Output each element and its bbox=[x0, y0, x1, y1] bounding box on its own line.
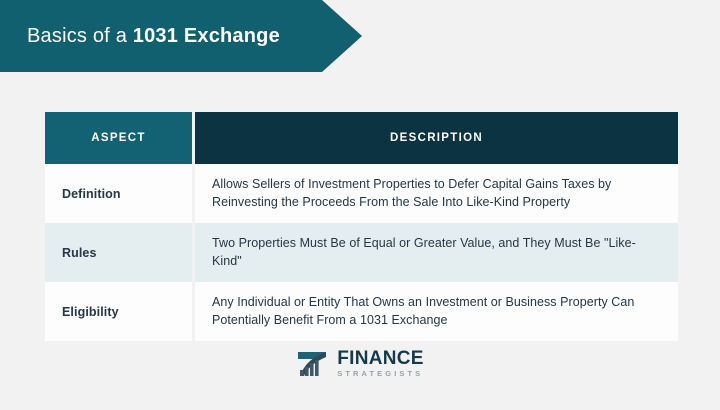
table-body: Definition Allows Sellers of Investment … bbox=[45, 164, 678, 341]
page-title-prefix: Basics of a bbox=[27, 25, 133, 47]
basics-table: ASPECT DESCRIPTION Definition Allows Sel… bbox=[45, 112, 678, 341]
cell-description: Allows Sellers of Investment Properties … bbox=[192, 164, 678, 223]
page-title-emphasis: 1031 Exchange bbox=[133, 25, 280, 47]
column-header-aspect: ASPECT bbox=[45, 112, 192, 164]
header-banner: Basics of a 1031 Exchange bbox=[0, 0, 362, 72]
table-row: Eligibility Any Individual or Entity Tha… bbox=[45, 282, 678, 341]
column-header-description: DESCRIPTION bbox=[192, 112, 678, 164]
cell-aspect: Eligibility bbox=[45, 282, 192, 341]
logo-sub-text: STRATEGISTS bbox=[337, 370, 424, 378]
cell-aspect: Rules bbox=[45, 223, 192, 282]
page-title: Basics of a 1031 Exchange bbox=[0, 25, 280, 48]
table-header: ASPECT DESCRIPTION bbox=[45, 112, 678, 164]
cell-description: Two Properties Must Be of Equal or Great… bbox=[192, 223, 678, 282]
table-row: Definition Allows Sellers of Investment … bbox=[45, 164, 678, 223]
cell-aspect: Definition bbox=[45, 164, 192, 223]
table-header-row: ASPECT DESCRIPTION bbox=[45, 112, 678, 164]
finance-strategists-chart-arrow-icon bbox=[296, 348, 330, 378]
cell-description: Any Individual or Entity That Owns an In… bbox=[192, 282, 678, 341]
table-row: Rules Two Properties Must Be of Equal or… bbox=[45, 223, 678, 282]
logo-wordmark: FINANCE STRATEGISTS bbox=[337, 349, 424, 378]
logo-main-text: FINANCE bbox=[337, 349, 424, 368]
basics-table-container: ASPECT DESCRIPTION Definition Allows Sel… bbox=[45, 112, 678, 341]
footer-logo: FINANCE STRATEGISTS bbox=[0, 348, 720, 378]
